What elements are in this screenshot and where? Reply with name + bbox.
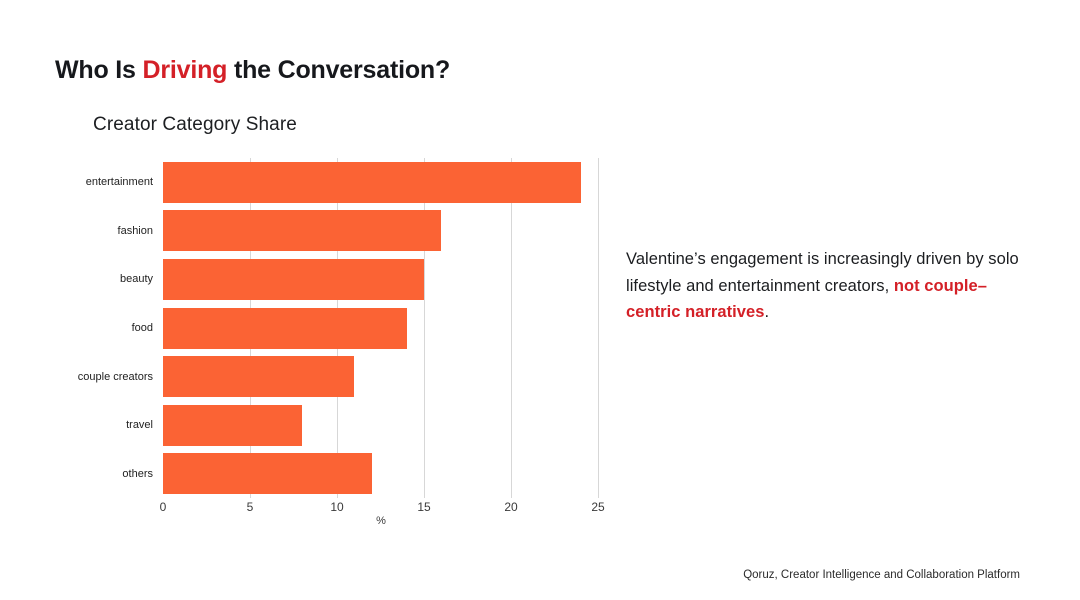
bar-beauty[interactable] [163, 259, 424, 300]
category-label-fashion: fashion [0, 224, 153, 238]
category-label-couple-creators: couple creators [0, 370, 153, 384]
bar-row[interactable] [163, 356, 598, 397]
insight-callout: Valentine’s engagement is increasingly d… [626, 246, 1026, 326]
bar-fashion[interactable] [163, 210, 441, 251]
bar-couple-creators[interactable] [163, 356, 354, 397]
bar-row[interactable] [163, 405, 598, 446]
source-footer: Qoruz, Creator Intelligence and Collabor… [743, 569, 1020, 581]
x-tick-10: 10 [330, 500, 343, 514]
bar-row[interactable] [163, 453, 598, 494]
bar-entertainment[interactable] [163, 162, 581, 203]
x-tick-20: 20 [504, 500, 517, 514]
bar-others[interactable] [163, 453, 372, 494]
insight-text-period: . [764, 303, 769, 321]
category-label-beauty: beauty [0, 272, 153, 286]
bar-row[interactable] [163, 259, 598, 300]
category-label-food: food [0, 321, 153, 335]
category-label-entertainment: entertainment [0, 175, 153, 189]
chart-container: Creator Category Share 0510152025 % ente… [0, 0, 640, 545]
gridline [598, 158, 599, 498]
x-tick-5: 5 [247, 500, 254, 514]
x-tick-25: 25 [591, 500, 604, 514]
category-label-travel: travel [0, 418, 153, 432]
x-tick-15: 15 [417, 500, 430, 514]
x-tick-0: 0 [160, 500, 167, 514]
bar-travel[interactable] [163, 405, 302, 446]
x-axis-label: % [376, 515, 386, 527]
bar-food[interactable] [163, 308, 407, 349]
bar-row[interactable] [163, 210, 598, 251]
category-label-others: others [0, 467, 153, 481]
bar-row[interactable] [163, 308, 598, 349]
bar-row[interactable] [163, 162, 598, 203]
chart-plot-area [163, 158, 598, 498]
chart-title: Creator Category Share [93, 114, 297, 136]
